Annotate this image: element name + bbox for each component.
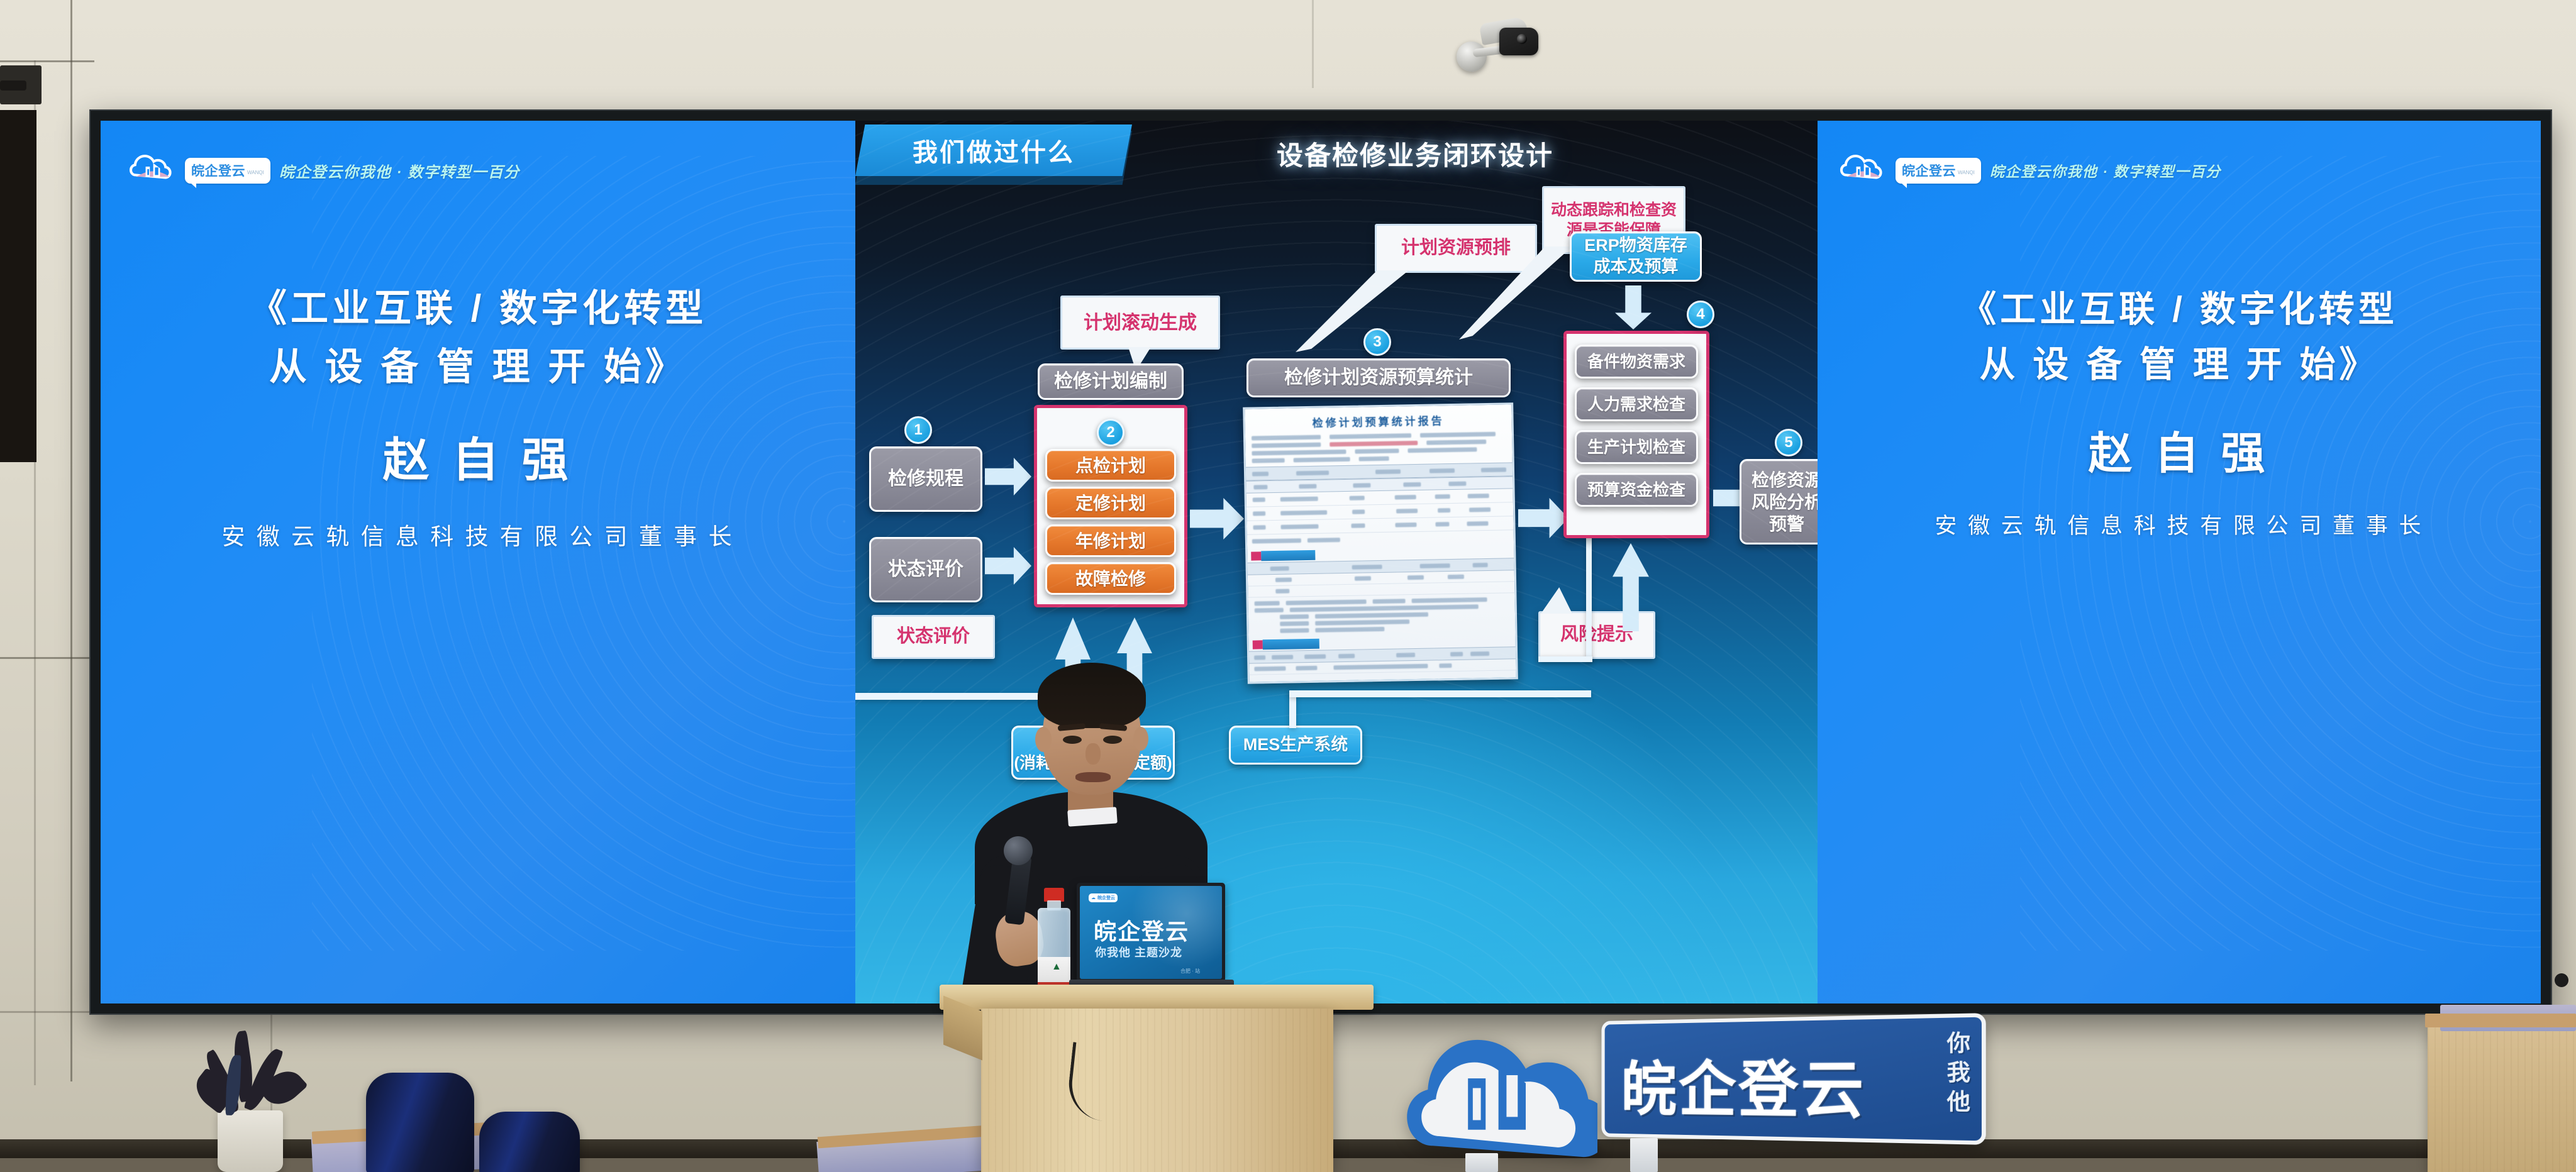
- node-spare-parts-demand: 备件物资需求: [1575, 345, 1698, 379]
- brand-chip: 皖企登云 WANQI: [185, 158, 270, 184]
- potted-plant: [169, 1019, 319, 1172]
- chair: [479, 1112, 580, 1172]
- brand-chip-mini: WANQI: [1958, 170, 1975, 175]
- standee-mini-3: 他: [1947, 1091, 1971, 1115]
- connector-bus: [1289, 690, 1591, 697]
- laptop-footnote: 合肥 · 站: [1180, 968, 1200, 975]
- node-risk-analysis-alert: 检修资源 风险分析 预警: [1740, 459, 1818, 545]
- brand-tagline: 皖企登云你我他 · 数字转型一百分: [279, 160, 520, 182]
- ceiling-security-camera: [1446, 11, 1560, 80]
- slide-title: 设备检修业务闭环设计: [1277, 135, 1553, 173]
- right-panel-speaker-role: 安 徽 云 轨 信 息 科 技 有 限 公 司 董 事 长: [1935, 508, 2423, 540]
- standee-mini-1: 你: [1947, 1032, 1971, 1056]
- step-badge-2: 2: [1097, 419, 1124, 446]
- chair: [366, 1073, 474, 1172]
- node-condition-assessment: 状态评价: [869, 537, 982, 602]
- left-panel-speaker-name: 赵 自 强: [382, 423, 573, 490]
- node-erp-inventory-budget: ERP物资库存 成本及预算: [1570, 231, 1702, 282]
- led-video-wall-screen: 皖企登云 WANQI 皖企登云你我他 · 数字转型一百分 《工业互联 / 数字化…: [101, 121, 2541, 1003]
- callout-resource-schedule: 计划资源预排: [1375, 224, 1537, 273]
- right-brand-panel: 皖企登云 WANQI 皖企登云你我他 · 数字转型一百分 《工业互联 / 数字化…: [1818, 121, 2541, 1003]
- node-budget-statistics: 检修计划资源预算统计: [1246, 358, 1511, 397]
- cloud-logo-icon: [1840, 153, 1887, 187]
- arrow-right: [985, 547, 1031, 585]
- laptop-brand-chip: ☁ 皖企登云: [1089, 893, 1118, 902]
- laptop-headline: 皖企登云: [1094, 914, 1189, 946]
- standee-leg: [1630, 1138, 1658, 1172]
- podium: [981, 1009, 1333, 1172]
- podium-top-ledge: [940, 985, 1374, 1010]
- left-brand-panel: 皖企登云 WANQI 皖企登云你我他 · 数字转型一百分 《工业互联 / 数字化…: [101, 121, 855, 1003]
- right-panel-speaker-name: 赵 自 强: [2089, 418, 2270, 482]
- standee-text: 皖企登云: [1621, 1039, 1867, 1131]
- node-budget-funds-check: 预算资金检查: [1575, 473, 1698, 507]
- cloud-logo-icon: [130, 153, 176, 187]
- water-bottle: ▲: [1034, 888, 1074, 998]
- standee-mini-2: 我: [1947, 1061, 1971, 1085]
- step-badge-3: 3: [1363, 328, 1391, 356]
- brand-tagline: 皖企登云你我他 · 数字转型一百分: [1990, 160, 2221, 181]
- callout-tail: [1540, 587, 1572, 614]
- wall-seam: [1312, 0, 1314, 88]
- right-panel-title: 《工业互联 / 数字化转型 从 设 备 管 理 开 始》: [1960, 282, 2398, 393]
- conference-photo-scene: 皖企登云 WANQI 皖企登云你我他 · 数字转型一百分 《工业互联 / 数字化…: [0, 0, 2576, 1172]
- standee-leg: [1465, 1153, 1498, 1172]
- node-plan-preparation: 检修计划编制: [1038, 363, 1184, 400]
- right-panel-title-line2: 从 设 备 管 理 开 始》: [1960, 337, 2398, 392]
- node-maintenance-procedure: 检修规程: [869, 446, 982, 512]
- arrow-right: [1518, 498, 1568, 538]
- laptop-subline: 你我他 主题沙龙: [1095, 944, 1182, 960]
- connector-line: [1538, 656, 1592, 662]
- brand-chip: 皖企登云 WANQI: [1896, 158, 1981, 184]
- wall-recess: [0, 110, 36, 462]
- report-title: 检修计划预算统计报告: [1245, 411, 1511, 431]
- step-badge-1: 1: [904, 416, 932, 444]
- right-panel-title-line1: 《工业互联 / 数字化转型: [1960, 282, 2398, 337]
- brand-chip-text: 皖企登云: [1902, 161, 1956, 180]
- step-badge-4: 4: [1687, 301, 1714, 328]
- left-panel-title: 《工业互联 / 数字化转型 从 设 备 管 理 开 始》: [249, 279, 707, 396]
- node-breakdown-repair: 故障检修: [1045, 562, 1176, 595]
- brand-chip-mini: WANQI: [247, 170, 264, 175]
- connector-line: [1586, 536, 1592, 661]
- bottle-label-tree-icon: ▲: [1052, 962, 1062, 972]
- callout-tail: [1296, 270, 1409, 352]
- node-manpower-check: 人力需求检查: [1575, 387, 1698, 421]
- wall-fixture-handle: [0, 80, 26, 91]
- wall-seam: [0, 60, 94, 62]
- node-production-plan-check: 生产计划检查: [1575, 430, 1698, 464]
- node-mes-system: MES生产系统: [1229, 726, 1362, 765]
- left-panel-title-line2: 从 设 备 管 理 开 始》: [249, 338, 707, 396]
- callout-plan-rolling: 计划滚动生成: [1060, 296, 1220, 350]
- brand-chip-text: 皖企登云: [191, 161, 245, 180]
- slide-section-tab: 我们做过什么: [855, 124, 1132, 176]
- laptop-chip-text: 皖企登云: [1097, 895, 1115, 901]
- arrow-right: [985, 458, 1031, 495]
- wall-seam: [70, 0, 72, 1081]
- node-scheduled-repair-plan: 定修计划: [1045, 487, 1176, 519]
- floor-standee-logo: 皖企登云 你 我 他: [1390, 1005, 2057, 1172]
- left-panel-speaker-role: 安 徽 云 轨 信 息 科 技 有 限 公 司 董 事 长: [222, 517, 735, 551]
- arrow-right: [1190, 498, 1244, 539]
- step-badge-5: 5: [1775, 429, 1802, 456]
- desk-microphone-head: [2555, 973, 2568, 987]
- left-panel-title-line1: 《工业互联 / 数字化转型: [249, 279, 707, 338]
- right-side-desk-edge: [2425, 1014, 2576, 1027]
- node-inspection-plan: 点检计划: [1045, 449, 1176, 482]
- laptop-screen: ☁ 皖企登云 皖企登云 你我他 主题沙龙 合肥 · 站: [1077, 883, 1225, 982]
- wall-seam: [0, 657, 94, 659]
- node-annual-repair-plan: 年修计划: [1045, 524, 1176, 557]
- arrow-down: [1615, 285, 1652, 329]
- report-screenshot: 检修计划预算统计报告: [1243, 402, 1518, 683]
- standee-cloud-logo-icon: [1390, 1011, 1597, 1168]
- standee-text-plate: 皖企登云 你 我 他: [1601, 1013, 1985, 1145]
- right-side-desk: [2428, 1025, 2576, 1172]
